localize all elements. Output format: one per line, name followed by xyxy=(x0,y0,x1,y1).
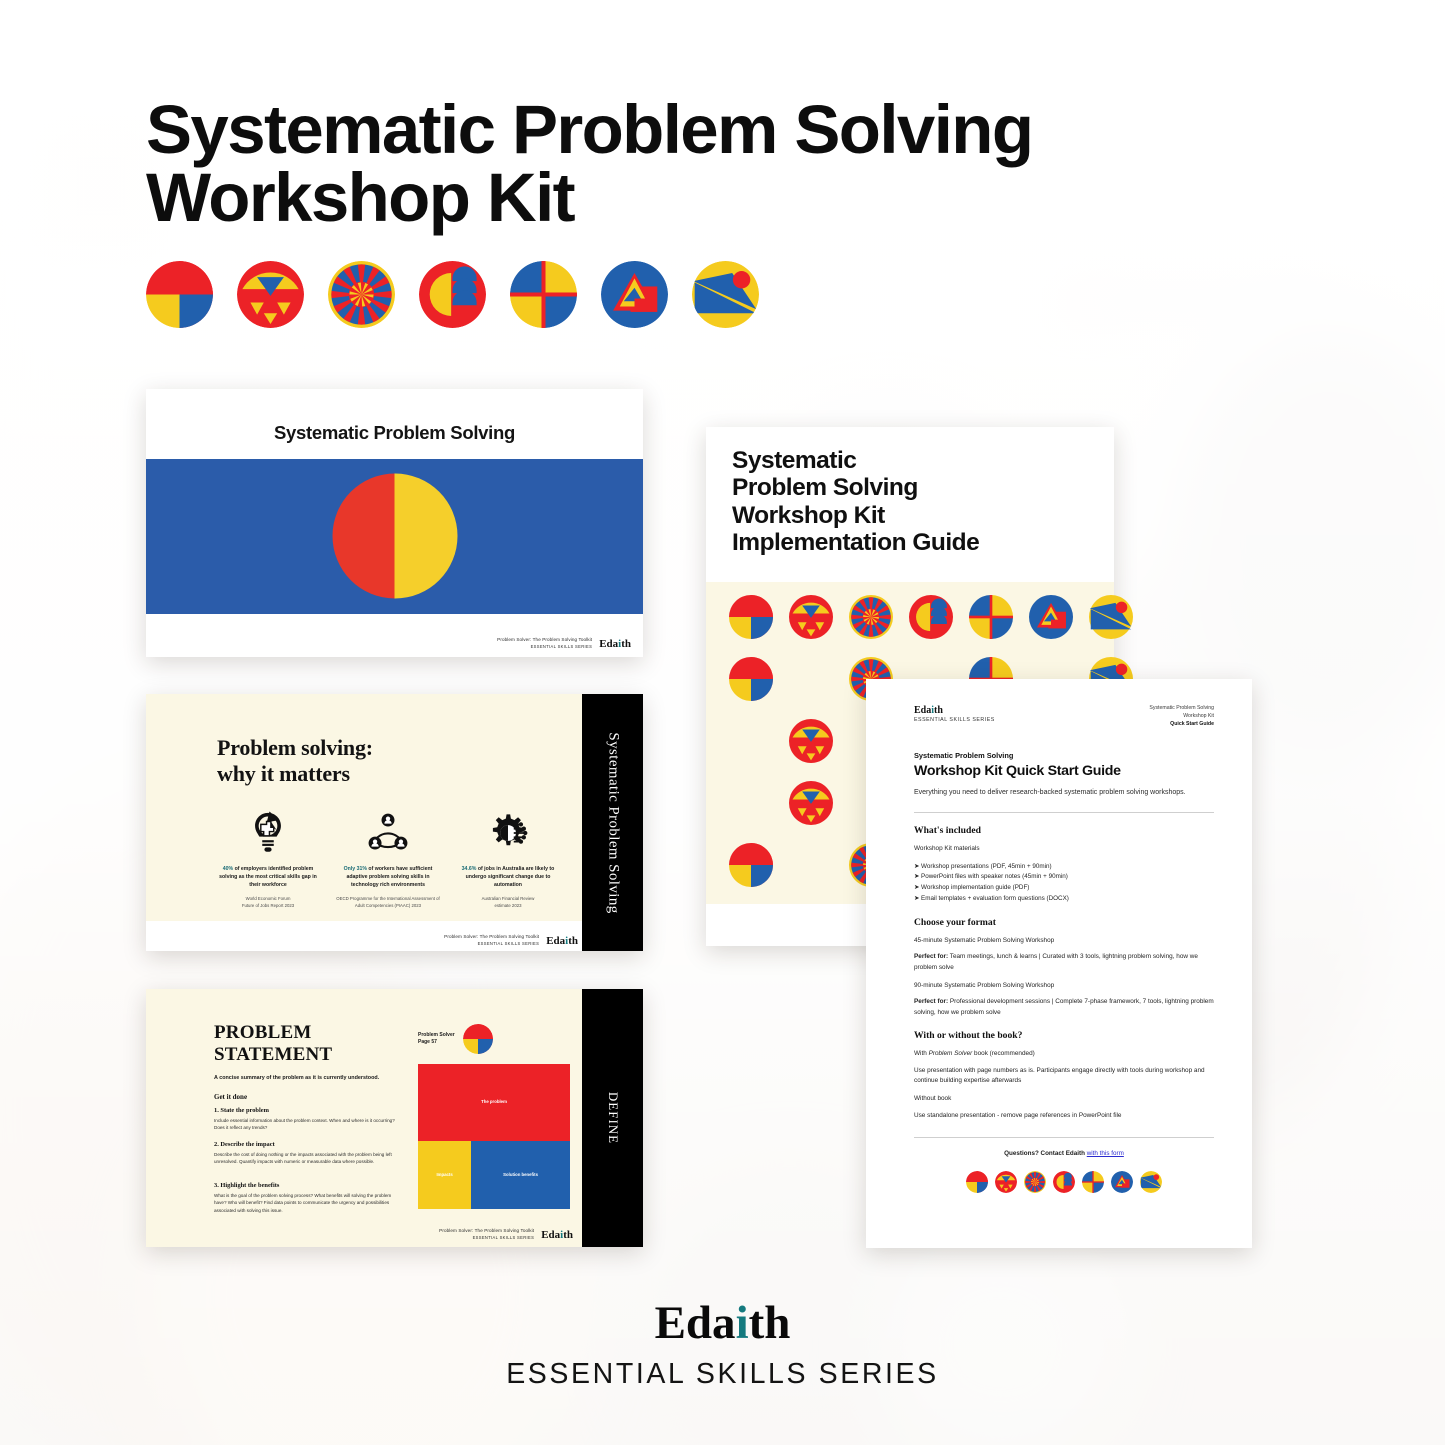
page-title-line1: Systematic Problem Solving xyxy=(146,96,1146,164)
slide3-page-marker: Problem Solver Page 57 xyxy=(418,1024,493,1054)
triangles-fan-icon xyxy=(237,261,304,328)
starburst-wheel-icon xyxy=(849,595,893,639)
stat-highlight: 34.6% xyxy=(462,866,477,872)
qsg-format-90-title: 90-minute Systematic Problem Solving Wor… xyxy=(914,981,1214,991)
quartered-circle-icon xyxy=(729,843,773,887)
qsg-book-without-title: Without book xyxy=(914,1094,1214,1104)
triangles-fan-icon xyxy=(789,719,833,763)
slide2-footer-strip: Problem Solver: The Problem Solving Tool… xyxy=(146,921,582,951)
layered-arcs-icon xyxy=(1053,1171,1075,1193)
qsg-book-with-body: Use presentation with page numbers as is… xyxy=(914,1066,1214,1087)
slide3-footer: Problem Solver: The Problem Solving Tool… xyxy=(439,1228,573,1241)
guide-icon-placeholder xyxy=(789,657,833,701)
edaith-logo: Edaith xyxy=(914,705,995,716)
page-title: Systematic Problem Solving Workshop Kit xyxy=(146,96,1146,233)
hero-icon-row xyxy=(146,261,759,328)
triangles-fan-icon xyxy=(789,781,833,825)
qsg-book-without-body: Use standalone presentation - remove pag… xyxy=(914,1111,1214,1121)
stat-highlight: Only 31% xyxy=(344,866,367,872)
footer-series-label: ESSENTIAL SKILLS SERIES xyxy=(0,1358,1445,1391)
slide1-footer-line2: ESSENTIAL SKILLS SERIES xyxy=(497,644,592,650)
triangle-square-icon xyxy=(1111,1171,1133,1193)
poster-canvas: Systematic Problem Solving Workshop Kit xyxy=(0,0,1445,1445)
qsg-meta: Systematic Problem Solving Workshop Kit … xyxy=(1149,705,1214,728)
slide1-footer: Problem Solver: The Problem Solving Tool… xyxy=(497,637,631,650)
sun-horizon-icon xyxy=(1140,1171,1162,1193)
qsg-format-90-body: Perfect for: Professional development se… xyxy=(914,997,1214,1018)
divider xyxy=(914,812,1214,813)
slide-card-why-it-matters[interactable]: Problem solving: why it matters 40% of e… xyxy=(146,694,643,951)
qsg-header: Edaith ESSENTIAL SKILLS SERIES Systemati… xyxy=(914,705,1214,728)
starburst-wheel-icon xyxy=(1024,1171,1046,1193)
stat-source: World Economic ForumFuture of Jobs Repor… xyxy=(215,896,321,909)
stat-source: OECD Programme for the International Ass… xyxy=(335,896,441,909)
slide2-heading: Problem solving: why it matters xyxy=(217,735,373,787)
stat-text: 34.6% of jobs in Australia are likely to… xyxy=(455,865,561,889)
stat-block: Only 31% of workers have sufficient adap… xyxy=(328,806,448,909)
footer-brand: Edaith ESSENTIAL SKILLS SERIES xyxy=(0,1300,1445,1391)
edaith-logo: Edaith xyxy=(599,638,631,650)
quartered-circle-icon xyxy=(146,261,213,328)
page-title-line2: Workshop Kit xyxy=(146,164,1146,232)
triangles-fan-icon xyxy=(995,1171,1017,1193)
document-card-quick-start-guide[interactable]: Edaith ESSENTIAL SKILLS SERIES Systemati… xyxy=(866,679,1252,1248)
quartered-circle-icon xyxy=(966,1171,988,1193)
slide3-footer-line1: Problem Solver: The Problem Solving Tool… xyxy=(439,1228,534,1235)
slide1-footer-line1: Problem Solver: The Problem Solving Tool… xyxy=(497,637,592,644)
arrow-icon: ➤ xyxy=(914,873,919,880)
qsg-eyebrow: Systematic Problem Solving xyxy=(914,751,1214,760)
slide3-heading: PROBLEM STATEMENT xyxy=(214,1022,332,1066)
qsg-icon-row xyxy=(914,1171,1214,1193)
slide3-footer-line2: ESSENTIAL SKILLS SERIES xyxy=(439,1235,534,1241)
matrix-label-impacts: Impacts xyxy=(436,1172,452,1178)
four-quadrant-icon xyxy=(969,595,1013,639)
stat-block: 34.6% of jobs in Australia are likely to… xyxy=(448,806,568,909)
gear-automation-icon xyxy=(455,806,561,860)
slide3-step: 3. Highlight the benefits What is the go… xyxy=(214,1182,399,1214)
slide3-step: 2. Describe the impact Describe the cost… xyxy=(214,1141,399,1166)
slide2-footer-line2: ESSENTIAL SKILLS SERIES xyxy=(444,941,539,947)
stat-text: Only 31% of workers have sufficient adap… xyxy=(335,865,441,889)
included-list-item: ➤ Workshop presentations (PDF, 45min + 9… xyxy=(914,862,1214,873)
slide3-matrix-graphic: The problem Impacts Solution benefits xyxy=(418,1064,570,1209)
stat-text: 40% of employers identified problem solv… xyxy=(215,865,321,889)
qsg-included-heading: What's included xyxy=(914,825,1214,836)
slide3-step: 1. State the problem Include essential i… xyxy=(214,1107,399,1132)
layered-arcs-icon xyxy=(419,261,486,328)
people-network-icon xyxy=(335,806,441,860)
edaith-logo: Edaith xyxy=(546,935,578,947)
triangle-square-icon xyxy=(601,261,668,328)
sun-horizon-icon xyxy=(1089,595,1133,639)
slide2-footer-line1: Problem Solver: The Problem Solving Tool… xyxy=(444,934,539,941)
lightbulb-puzzle-icon xyxy=(215,806,321,860)
starburst-wheel-icon xyxy=(328,261,395,328)
slide3-sidebar: DEFINE xyxy=(582,989,643,1247)
sun-horizon-icon xyxy=(692,261,759,328)
qsg-book-heading: With or without the book? xyxy=(914,1030,1214,1041)
four-quadrant-icon xyxy=(510,261,577,328)
guide-icon-placeholder xyxy=(729,781,773,825)
arrow-icon: ➤ xyxy=(914,884,919,891)
included-list-item: ➤ Email templates + evaluation form ques… xyxy=(914,894,1214,905)
included-list-item: ➤ Workshop implementation guide (PDF) xyxy=(914,883,1214,894)
arrow-icon: ➤ xyxy=(914,895,919,902)
slide2-sidebar-label: Systematic Problem Solving xyxy=(604,732,621,913)
guide-icon-placeholder xyxy=(789,843,833,887)
stat-source: Australian Financial Reviewestimate 2023 xyxy=(455,896,561,909)
stat-highlight: 40% xyxy=(223,866,233,872)
matrix-label-benefits: Solution benefits xyxy=(502,1172,540,1178)
edaith-logo-large: Edaith xyxy=(0,1300,1445,1347)
edaith-logo: Edaith xyxy=(541,1229,573,1241)
qsg-format-45-body: Perfect for: Team meetings, lunch & lear… xyxy=(914,952,1214,973)
quartered-circle-icon xyxy=(729,657,773,701)
contact-form-link[interactable]: with this form xyxy=(1087,1150,1124,1157)
qsg-title: Workshop Kit Quick Start Guide xyxy=(914,763,1214,779)
triangles-fan-icon xyxy=(789,595,833,639)
arrow-icon: ➤ xyxy=(914,863,919,870)
qsg-included-list: ➤ Workshop presentations (PDF, 45min + 9… xyxy=(914,862,1214,905)
guide-icon-row xyxy=(729,595,1133,639)
slide1-title: Systematic Problem Solving xyxy=(146,422,643,444)
slide3-get-it-done: Get it done xyxy=(214,1093,247,1101)
matrix-label-top: The problem xyxy=(481,1099,507,1105)
qsg-format-45-title: 45-minute Systematic Problem Solving Wor… xyxy=(914,936,1214,946)
slide2-stat-group: 40% of employers identified problem solv… xyxy=(208,806,568,909)
qsg-included-sub: Workshop Kit materials xyxy=(914,844,1214,854)
slide-card-title[interactable]: Systematic Problem Solving Problem Solve… xyxy=(146,389,643,657)
four-quadrant-icon xyxy=(1082,1171,1104,1193)
slide2-sidebar: Systematic Problem Solving xyxy=(582,694,643,951)
slide3-lead: A concise summary of the problem as it i… xyxy=(214,1074,384,1082)
stat-block: 40% of employers identified problem solv… xyxy=(208,806,328,909)
guide-icon-placeholder xyxy=(729,719,773,763)
quartered-circle-icon xyxy=(729,595,773,639)
qsg-book-with-title: With Problem Solver book (recommended) xyxy=(914,1049,1214,1059)
slide1-circle-graphic xyxy=(332,474,457,599)
layered-arcs-icon xyxy=(909,595,953,639)
divider xyxy=(914,1137,1214,1138)
qsg-subtitle: Everything you need to deliver research-… xyxy=(914,788,1214,799)
qsg-brand: Edaith ESSENTIAL SKILLS SERIES xyxy=(914,705,995,723)
triangle-square-icon xyxy=(1029,595,1073,639)
slide-card-problem-statement[interactable]: PROBLEM STATEMENT A concise summary of t… xyxy=(146,989,643,1247)
qsg-format-heading: Choose your format xyxy=(914,917,1214,928)
qsg-brand-series: ESSENTIAL SKILLS SERIES xyxy=(914,717,995,723)
quartered-circle-icon xyxy=(463,1024,493,1054)
guide-title: Systematic Problem Solving Workshop Kit … xyxy=(732,447,979,557)
slide3-sidebar-label: DEFINE xyxy=(605,1092,621,1144)
qsg-contact: Questions? Contact Edaith with this form xyxy=(914,1150,1214,1157)
included-list-item: ➤ PowerPoint files with speaker notes (4… xyxy=(914,872,1214,883)
